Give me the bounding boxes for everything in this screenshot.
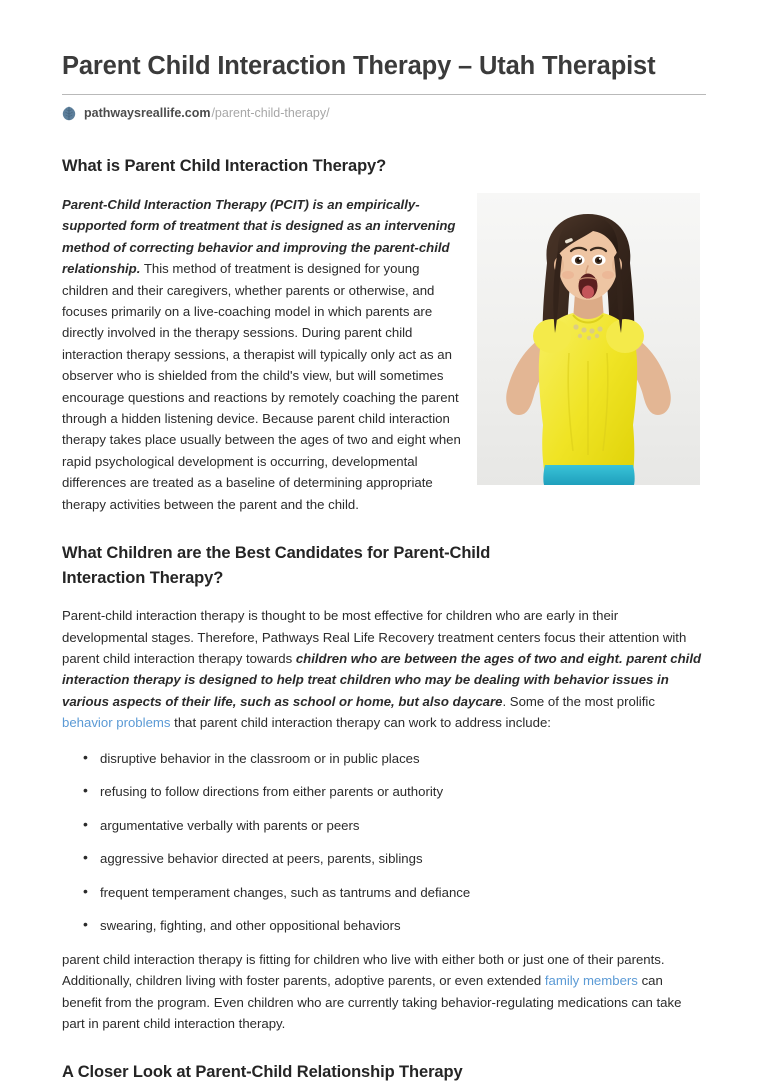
list-item: disruptive behavior in the classroom or …	[100, 748, 706, 782]
paragraph-what-is-pcit: Parent-Child Interaction Therapy (PCIT) …	[62, 179, 462, 515]
list-item: frequent temperament changes, such as ta…	[100, 882, 706, 916]
candidates-text-part2: . Some of the most prolific	[502, 694, 654, 709]
list-item: aggressive behavior directed at peers, p…	[100, 848, 706, 882]
heading-closer-look: A Closer Look at Parent-Child Relationsh…	[62, 1035, 706, 1085]
candidates-text-part3: that parent child interaction therapy ca…	[171, 715, 551, 730]
source-url-line: pathwaysreallife.com /parent-child-thera…	[62, 105, 706, 121]
behavior-problems-list: disruptive behavior in the classroom or …	[62, 734, 706, 937]
link-behavior-problems[interactable]: behavior problems	[62, 715, 171, 730]
source-domain[interactable]: pathwaysreallife.com	[84, 105, 210, 121]
list-item: refusing to follow directions from eithe…	[100, 781, 706, 815]
source-path[interactable]: /parent-child-therapy/	[211, 105, 329, 121]
list-item: swearing, fighting, and other opposition…	[100, 915, 706, 936]
paragraph-body: This method of treatment is designed for…	[62, 261, 461, 511]
link-family-members[interactable]: family members	[545, 973, 638, 988]
document-page: Parent Child Interaction Therapy – Utah …	[0, 0, 768, 994]
list-item: argumentative verbally with parents or p…	[100, 815, 706, 849]
page-title: Parent Child Interaction Therapy – Utah …	[62, 0, 706, 82]
paragraph-fitting-children: parent child interaction therapy is fitt…	[62, 936, 706, 1035]
heading-best-candidates: What Children are the Best Candidates fo…	[62, 515, 492, 591]
title-divider	[62, 94, 706, 95]
surprised-girl-photo	[477, 193, 700, 485]
heading-what-is-pcit: What is Parent Child Interaction Therapy…	[62, 121, 706, 179]
pathways-leaf-favicon	[62, 106, 76, 121]
paragraph-best-candidates: Parent-child interaction therapy is thou…	[62, 591, 706, 733]
